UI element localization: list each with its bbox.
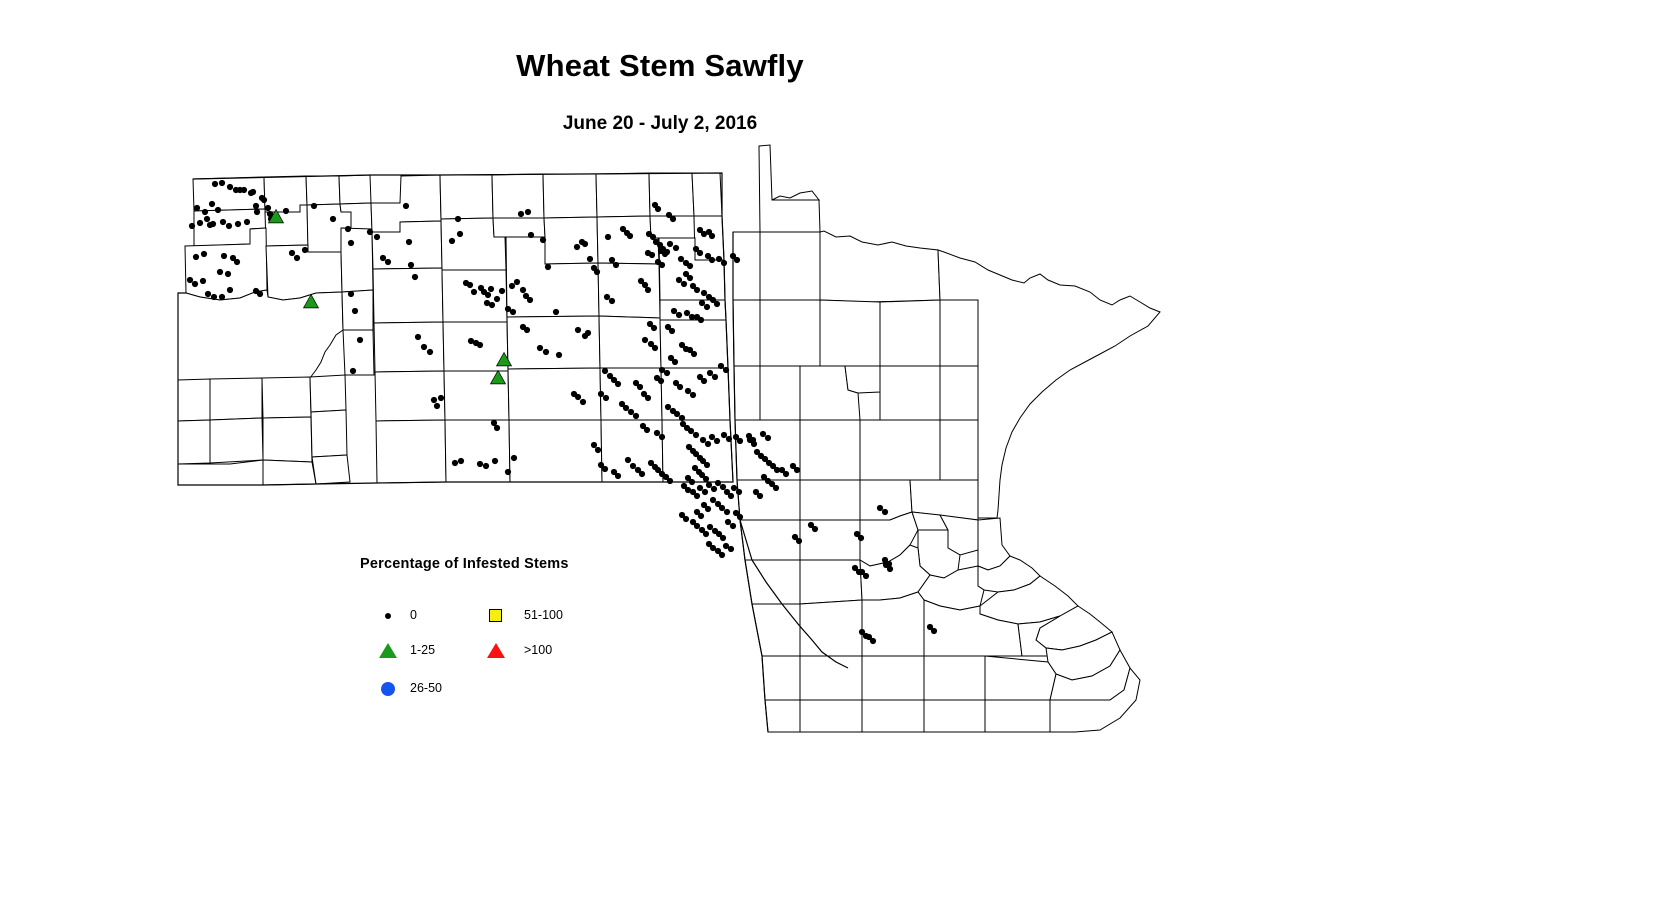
map-point-0[interactable]: [254, 209, 260, 215]
map-point-0[interactable]: [765, 435, 771, 441]
map-point-0[interactable]: [537, 345, 543, 351]
map-point-0[interactable]: [603, 395, 609, 401]
map-point-0[interactable]: [628, 409, 634, 415]
map-point-0[interactable]: [540, 237, 546, 243]
map-point-0[interactable]: [219, 180, 225, 186]
map-point-0[interactable]: [655, 206, 661, 212]
map-point-0[interactable]: [712, 374, 718, 380]
legend-label-0: 0: [410, 608, 417, 622]
map-point-0[interactable]: [726, 436, 732, 442]
map-point-0[interactable]: [633, 413, 639, 419]
map-point-0[interactable]: [348, 240, 354, 246]
map-point-0[interactable]: [649, 252, 655, 258]
map-point-0[interactable]: [676, 312, 682, 318]
map-point-0[interactable]: [706, 482, 712, 488]
legend-label-1-25: 1-25: [410, 643, 435, 657]
map-point-0[interactable]: [609, 257, 615, 263]
legend-swatch->100: [487, 643, 505, 658]
map-point-0[interactable]: [574, 244, 580, 250]
map-point-0[interactable]: [283, 208, 289, 214]
map-point-0[interactable]: [737, 438, 743, 444]
map-point-0[interactable]: [724, 509, 730, 515]
map-point-0[interactable]: [707, 370, 713, 376]
map-point-0[interactable]: [720, 535, 726, 541]
map-point-0[interactable]: [689, 479, 695, 485]
map-point-0[interactable]: [794, 467, 800, 473]
map-point-0[interactable]: [357, 337, 363, 343]
map-point-0[interactable]: [227, 287, 233, 293]
map-point-0[interactable]: [518, 211, 524, 217]
map-point-0[interactable]: [644, 427, 650, 433]
map-point-0[interactable]: [678, 256, 684, 262]
map-point-0[interactable]: [257, 291, 263, 297]
map-point-0[interactable]: [202, 209, 208, 215]
map-point-0[interactable]: [289, 250, 295, 256]
map-point-0[interactable]: [582, 241, 588, 247]
map-point-0[interactable]: [200, 278, 206, 284]
map-point-0[interactable]: [227, 184, 233, 190]
map-point-0[interactable]: [499, 288, 505, 294]
map-point-0[interactable]: [690, 392, 696, 398]
map-point-0[interactable]: [345, 226, 351, 232]
map-point-0[interactable]: [438, 395, 444, 401]
map-point-0[interactable]: [677, 384, 683, 390]
map-point-0[interactable]: [352, 308, 358, 314]
legend-label-51-100: 51-100: [524, 608, 563, 622]
map-point-0[interactable]: [651, 325, 657, 331]
map-point-0[interactable]: [189, 223, 195, 229]
map-point-0[interactable]: [721, 432, 727, 438]
map-point-0[interactable]: [194, 205, 200, 211]
map-point-0[interactable]: [261, 197, 267, 203]
map-point-0[interactable]: [812, 526, 818, 532]
map-point-0[interactable]: [711, 486, 717, 492]
map-point-0[interactable]: [250, 189, 256, 195]
map-point-0[interactable]: [585, 330, 591, 336]
map-point-0[interactable]: [455, 216, 461, 222]
map-point-0[interactable]: [615, 473, 621, 479]
map-point-0[interactable]: [520, 287, 526, 293]
map-point-0[interactable]: [645, 395, 651, 401]
map-point-0[interactable]: [877, 505, 883, 511]
map-point-0[interactable]: [511, 455, 517, 461]
map-point-0[interactable]: [457, 231, 463, 237]
map-point-0[interactable]: [209, 201, 215, 207]
map-point-0[interactable]: [698, 317, 704, 323]
map-point-0[interactable]: [697, 250, 703, 256]
map-point-0[interactable]: [215, 207, 221, 213]
map-point-0[interactable]: [492, 458, 498, 464]
map-point-0[interactable]: [637, 384, 643, 390]
map-point-0[interactable]: [676, 277, 682, 283]
legend-swatch-0: [385, 613, 391, 619]
map-point-0[interactable]: [528, 232, 534, 238]
map-point-0[interactable]: [604, 294, 610, 300]
map-point-0[interactable]: [694, 287, 700, 293]
map-point-0[interactable]: [704, 462, 710, 468]
map-point-0[interactable]: [412, 274, 418, 280]
map-point-0[interactable]: [669, 328, 675, 334]
map-point-0[interactable]: [598, 391, 604, 397]
legend-label->100: >100: [524, 643, 552, 657]
map-point-0[interactable]: [702, 489, 708, 495]
map-point-0[interactable]: [427, 349, 433, 355]
map-point-0[interactable]: [449, 238, 455, 244]
map-point-0[interactable]: [664, 249, 670, 255]
map-point-0[interactable]: [623, 405, 629, 411]
map-point-0[interactable]: [477, 461, 483, 467]
map-point-0[interactable]: [509, 283, 515, 289]
map-point-0[interactable]: [694, 493, 700, 499]
map-point-0[interactable]: [701, 378, 707, 384]
map-point-0[interactable]: [710, 497, 716, 503]
map-point-0[interactable]: [639, 471, 645, 477]
map-point-0[interactable]: [221, 253, 227, 259]
map-point-0[interactable]: [615, 381, 621, 387]
map-point-0[interactable]: [667, 241, 673, 247]
map-point-0[interactable]: [719, 552, 725, 558]
map-point-0[interactable]: [796, 538, 802, 544]
map-point-0[interactable]: [657, 242, 663, 248]
map-point-0[interactable]: [736, 489, 742, 495]
map-point-0[interactable]: [679, 415, 685, 421]
map-point-0[interactable]: [734, 257, 740, 263]
map-point-0[interactable]: [197, 220, 203, 226]
map-point-0[interactable]: [201, 251, 207, 257]
map-point-0[interactable]: [723, 367, 729, 373]
map-point-0[interactable]: [234, 259, 240, 265]
map-point-0[interactable]: [685, 388, 691, 394]
map-point-0[interactable]: [505, 469, 511, 475]
map-point-0[interactable]: [193, 254, 199, 260]
map-point-0[interactable]: [605, 234, 611, 240]
map-point-0[interactable]: [408, 262, 414, 268]
map-point-0[interactable]: [380, 255, 386, 261]
map-point-0[interactable]: [217, 269, 223, 275]
map-point-0[interactable]: [187, 277, 193, 283]
map-point-0[interactable]: [602, 368, 608, 374]
map-point-0[interactable]: [330, 216, 336, 222]
map-point-0[interactable]: [210, 221, 216, 227]
map-point-0[interactable]: [385, 259, 391, 265]
map-point-0[interactable]: [467, 282, 473, 288]
map-point-0[interactable]: [613, 262, 619, 268]
map-point-0[interactable]: [212, 181, 218, 187]
map-point-0[interactable]: [514, 279, 520, 285]
map-point-0[interactable]: [253, 203, 259, 209]
map-point-0[interactable]: [659, 262, 665, 268]
map-point-0[interactable]: [709, 434, 715, 440]
map-point-0[interactable]: [730, 523, 736, 529]
map-point-0[interactable]: [348, 291, 354, 297]
map-point-0[interactable]: [645, 287, 651, 293]
map-point-0[interactable]: [870, 638, 876, 644]
county-boundaries: [178, 145, 1160, 732]
map-point-0[interactable]: [721, 260, 727, 266]
legend-title: Percentage of Infested Stems: [360, 556, 569, 572]
map-point-0[interactable]: [709, 233, 715, 239]
map-point-0[interactable]: [625, 457, 631, 463]
map-point-0[interactable]: [719, 505, 725, 511]
map-point-0[interactable]: [658, 378, 664, 384]
legend-swatch-26-50: [381, 682, 395, 696]
map-point-0[interactable]: [659, 434, 665, 440]
map-point-0[interactable]: [783, 471, 789, 477]
map-canvas[interactable]: [0, 0, 1673, 900]
map-point-0[interactable]: [244, 219, 250, 225]
map-point-0[interactable]: [580, 399, 586, 405]
map-point-0[interactable]: [751, 441, 757, 447]
map-point-0[interactable]: [471, 289, 477, 295]
map-point-0[interactable]: [294, 255, 300, 261]
map-page: Wheat Stem Sawfly June 20 - July 2, 2016: [0, 0, 1673, 900]
map-point-0[interactable]: [667, 478, 673, 484]
map-point-0[interactable]: [654, 430, 660, 436]
map-point-0[interactable]: [683, 516, 689, 522]
map-point-0[interactable]: [587, 256, 593, 262]
map-point-0[interactable]: [477, 342, 483, 348]
map-point-0[interactable]: [863, 573, 869, 579]
map-point-0[interactable]: [709, 257, 715, 263]
map-point-0[interactable]: [673, 245, 679, 251]
map-point-0[interactable]: [671, 308, 677, 314]
map-point-0[interactable]: [510, 309, 516, 315]
map-point-0[interactable]: [694, 523, 700, 529]
map-point-0[interactable]: [483, 463, 489, 469]
map-point-0[interactable]: [415, 334, 421, 340]
map-point-0[interactable]: [705, 506, 711, 512]
map-point-0[interactable]: [670, 216, 676, 222]
map-point-0[interactable]: [205, 291, 211, 297]
map-point-0[interactable]: [728, 493, 734, 499]
map-point-0[interactable]: [703, 476, 709, 482]
map-point-0[interactable]: [693, 432, 699, 438]
map-point-0[interactable]: [674, 411, 680, 417]
map-point-0[interactable]: [858, 535, 864, 541]
map-point-0[interactable]: [642, 337, 648, 343]
map-point-0[interactable]: [524, 327, 530, 333]
map-point-0[interactable]: [431, 397, 437, 403]
map-point-0[interactable]: [403, 203, 409, 209]
map-point-0[interactable]: [931, 628, 937, 634]
map-point-0[interactable]: [715, 480, 721, 486]
map-point-0[interactable]: [311, 203, 317, 209]
map-point-0[interactable]: [241, 187, 247, 193]
map-point-0[interactable]: [204, 216, 210, 222]
map-point-0[interactable]: [406, 239, 412, 245]
map-point-0[interactable]: [627, 233, 633, 239]
map-point-0[interactable]: [652, 345, 658, 351]
map-point-0[interactable]: [728, 546, 734, 552]
map-point-0[interactable]: [718, 363, 724, 369]
map-point-0[interactable]: [731, 485, 737, 491]
map-point-0[interactable]: [716, 256, 722, 262]
map-point-0[interactable]: [691, 351, 697, 357]
map-point-0[interactable]: [697, 485, 703, 491]
map-point-0[interactable]: [707, 524, 713, 530]
map-point-0[interactable]: [494, 296, 500, 302]
map-point-0[interactable]: [543, 349, 549, 355]
map-point-0[interactable]: [545, 264, 551, 270]
map-point-0[interactable]: [757, 493, 763, 499]
map-point-0[interactable]: [703, 531, 709, 537]
map-point-0[interactable]: [698, 513, 704, 519]
map-point-0[interactable]: [225, 271, 231, 277]
map-point-0[interactable]: [421, 344, 427, 350]
map-point-0[interactable]: [737, 514, 743, 520]
map-point-0[interactable]: [434, 403, 440, 409]
map-point-0[interactable]: [374, 234, 380, 240]
map-point-0[interactable]: [485, 292, 491, 298]
map-point-0[interactable]: [192, 281, 198, 287]
map-point-0[interactable]: [681, 281, 687, 287]
map-point-0[interactable]: [452, 460, 458, 466]
map-point-0[interactable]: [886, 561, 892, 567]
map-point-0[interactable]: [773, 485, 779, 491]
map-point-0[interactable]: [302, 247, 308, 253]
map-point-0[interactable]: [265, 205, 271, 211]
map-point-0[interactable]: [687, 263, 693, 269]
map-point-0[interactable]: [488, 286, 494, 292]
map-point-0[interactable]: [367, 229, 373, 235]
map-point-0[interactable]: [882, 509, 888, 515]
legend-swatch-1-25: [379, 643, 397, 658]
map-point-0[interactable]: [602, 466, 608, 472]
map-point-0[interactable]: [664, 370, 670, 376]
map-point-0[interactable]: [211, 294, 217, 300]
map-point-0[interactable]: [687, 275, 693, 281]
map-point-0[interactable]: [714, 301, 720, 307]
map-point-0[interactable]: [714, 438, 720, 444]
map-point-0[interactable]: [705, 441, 711, 447]
map-point-0[interactable]: [630, 463, 636, 469]
map-point-0[interactable]: [575, 327, 581, 333]
map-point-0[interactable]: [672, 359, 678, 365]
map-point-0[interactable]: [699, 300, 705, 306]
legend-swatch-51-100: [489, 609, 502, 622]
map-point-0[interactable]: [553, 309, 559, 315]
map-point-0[interactable]: [701, 290, 707, 296]
map-point-0[interactable]: [525, 209, 531, 215]
map-point-0[interactable]: [350, 368, 356, 374]
map-point-0[interactable]: [219, 294, 225, 300]
map-point-0[interactable]: [665, 404, 671, 410]
map-point-0[interactable]: [725, 519, 731, 525]
map-point-0[interactable]: [609, 298, 615, 304]
map-point-0[interactable]: [650, 234, 656, 240]
map-point-0[interactable]: [688, 428, 694, 434]
map-point-0[interactable]: [235, 221, 241, 227]
map-point-0[interactable]: [760, 431, 766, 437]
map-point-0[interactable]: [594, 269, 600, 275]
map-point-0[interactable]: [704, 304, 710, 310]
map-point-0[interactable]: [684, 310, 690, 316]
map-point-0[interactable]: [220, 219, 226, 225]
map-point-0[interactable]: [595, 447, 601, 453]
map-point-0[interactable]: [575, 394, 581, 400]
map-point-0[interactable]: [226, 223, 232, 229]
map-point-0[interactable]: [556, 352, 562, 358]
map-point-0[interactable]: [489, 302, 495, 308]
county-map-svg[interactable]: [0, 0, 1673, 900]
map-point-0[interactable]: [494, 425, 500, 431]
map-point-0[interactable]: [591, 442, 597, 448]
map-point-0[interactable]: [458, 458, 464, 464]
map-point-0[interactable]: [527, 297, 533, 303]
map-point-0[interactable]: [700, 437, 706, 443]
legend-label-26-50: 26-50: [410, 681, 442, 695]
map-point-0[interactable]: [720, 484, 726, 490]
